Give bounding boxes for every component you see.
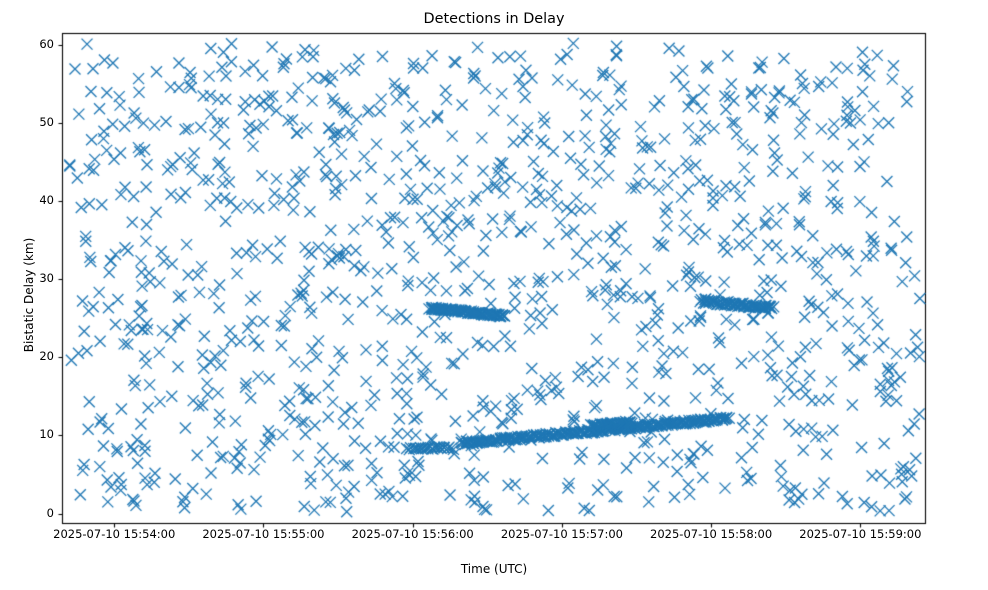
y-tick-label: 40	[8, 193, 54, 207]
y-tick-label: 20	[8, 349, 54, 363]
y-tick-label: 60	[8, 37, 54, 51]
x-tick-label: 2025-07-10 15:58:00	[641, 527, 781, 541]
x-axis-label: Time (UTC)	[0, 562, 988, 576]
x-tick-label: 2025-07-10 15:57:00	[492, 527, 632, 541]
x-tick-label: 2025-07-10 15:56:00	[343, 527, 483, 541]
y-tick-label: 30	[8, 271, 54, 285]
matplotlib-figure: Detections in Delay Time (UTC) Bistatic …	[0, 0, 988, 590]
x-tick-label: 2025-07-10 15:59:00	[790, 527, 930, 541]
y-axis-label: Bistatic Delay (km)	[22, 0, 44, 590]
y-tick-label: 50	[8, 115, 54, 129]
y-tick-label: 10	[8, 427, 54, 441]
x-tick-label: 2025-07-10 15:54:00	[44, 527, 184, 541]
chart-title: Detections in Delay	[0, 10, 988, 28]
x-tick-label: 2025-07-10 15:55:00	[193, 527, 333, 541]
y-tick-label: 0	[8, 506, 54, 520]
scatter-plot-canvas	[0, 0, 988, 590]
